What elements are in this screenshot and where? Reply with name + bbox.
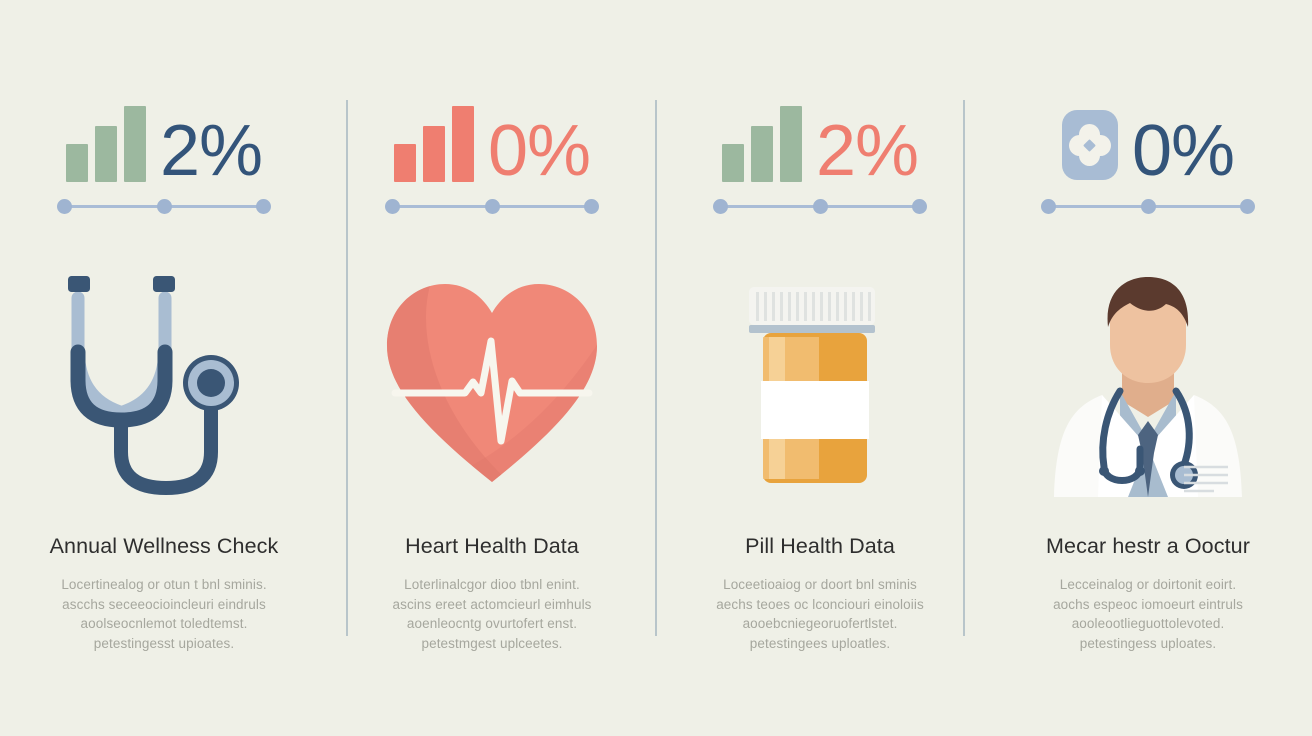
stat-row: 2% [722, 96, 918, 184]
timeline-indicator [713, 198, 927, 214]
bar-1 [394, 144, 416, 182]
column-annual-wellness-check: 2% [0, 0, 328, 736]
timeline-indicator [1041, 198, 1255, 214]
infographic-canvas: 2% [0, 0, 1312, 736]
bar-chart-icon [722, 108, 802, 184]
column-body: Locertinealog or otun t bnl sminis. ascc… [40, 575, 288, 653]
bar-2 [423, 126, 445, 182]
body-line: petestingees uploatles. [696, 634, 944, 654]
timeline-node-3[interactable] [1240, 199, 1255, 214]
column-heading: Heart Health Data [368, 534, 616, 559]
stat-row: 0% [394, 96, 590, 184]
stethoscope-illustration [52, 270, 276, 498]
bar-3 [780, 106, 802, 182]
timeline-node-1[interactable] [385, 199, 400, 214]
bar-2 [95, 126, 117, 182]
stat-row: 0% [1062, 96, 1234, 184]
body-line: Loceetioaiog or doort bnl sminis [696, 575, 944, 595]
body-line: aoenleocntg ovurtofert enst. [368, 614, 616, 634]
bar-3 [452, 106, 474, 182]
stat-value: 0% [488, 118, 590, 184]
illustration-stage [1042, 268, 1254, 500]
column-body: Loceetioaiog or doort bnl sminis aechs t… [696, 575, 944, 653]
doctor-portrait-illustration [1042, 271, 1254, 497]
body-line: Locertinealog or otun t bnl sminis. [40, 575, 288, 595]
text-block: Heart Health Data Loterlinalcgor dioo tb… [368, 534, 616, 653]
timeline-node-2[interactable] [485, 199, 500, 214]
timeline-node-1[interactable] [713, 199, 728, 214]
timeline-node-2[interactable] [157, 199, 172, 214]
bar-chart-icon [66, 108, 146, 184]
timeline-node-1[interactable] [57, 199, 72, 214]
illustration-stage [381, 268, 603, 500]
illustration-stage [52, 268, 276, 500]
column-body: Loterlinalcgor dioo tbnl enint. ascins e… [368, 575, 616, 653]
body-line: petestingess uploates. [1024, 634, 1272, 654]
stat-value: 2% [816, 118, 918, 184]
timeline-node-3[interactable] [912, 199, 927, 214]
bar-1 [66, 144, 88, 182]
column-body: Lecceinalog or doirtonit eoirt. aochs es… [1024, 575, 1272, 653]
body-line: aooleootlieguottolevoted. [1024, 614, 1272, 634]
column-heading: Mecar hestr a Ooctur [1024, 534, 1272, 559]
timeline-node-3[interactable] [256, 199, 271, 214]
text-block: Mecar hestr a Ooctur Lecceinalog or doir… [1024, 534, 1272, 653]
body-line: petestingesst upioates. [40, 634, 288, 654]
stat-value: 0% [1132, 118, 1234, 184]
illustration-stage [725, 268, 915, 500]
body-line: aooebcniegeoruofertlstet. [696, 614, 944, 634]
timeline-node-2[interactable] [1141, 199, 1156, 214]
timeline-node-1[interactable] [1041, 199, 1056, 214]
column-medical-doctor: 0% [984, 0, 1312, 736]
column-pill-health-data: 2% [656, 0, 984, 736]
bar-3 [124, 106, 146, 182]
pill-bottle-illustration [725, 277, 915, 491]
text-block: Pill Health Data Loceetioaiog or doort b… [696, 534, 944, 653]
stat-value: 2% [160, 118, 262, 184]
body-line: aochs espeoc iomoeurt eintruls [1024, 595, 1272, 615]
body-line: petestmgest uplceetes. [368, 634, 616, 654]
columns-container: 2% [0, 0, 1312, 736]
body-line: Lecceinalog or doirtonit eoirt. [1024, 575, 1272, 595]
body-line: ascchs seceeocioincleuri eindruls [40, 595, 288, 615]
timeline-indicator [385, 198, 599, 214]
text-block: Annual Wellness Check Locertinealog or o… [40, 534, 288, 653]
body-line: aoolseocnlemot toledtemst. [40, 614, 288, 634]
bar-2 [751, 126, 773, 182]
medical-cross-badge-icon [1062, 110, 1118, 180]
column-heading: Pill Health Data [696, 534, 944, 559]
bar-1 [722, 144, 744, 182]
column-heading: Annual Wellness Check [40, 534, 288, 559]
timeline-node-2[interactable] [813, 199, 828, 214]
timeline-indicator [57, 198, 271, 214]
heart-pulse-illustration [381, 276, 603, 492]
stat-row: 2% [66, 96, 262, 184]
body-line: aechs teoes oc lconciouri einoloiis [696, 595, 944, 615]
body-line: ascins ereet actomcieurl eimhuls [368, 595, 616, 615]
column-heart-health-data: 0% [328, 0, 656, 736]
body-line: Loterlinalcgor dioo tbnl enint. [368, 575, 616, 595]
bar-chart-icon [394, 108, 474, 184]
timeline-node-3[interactable] [584, 199, 599, 214]
